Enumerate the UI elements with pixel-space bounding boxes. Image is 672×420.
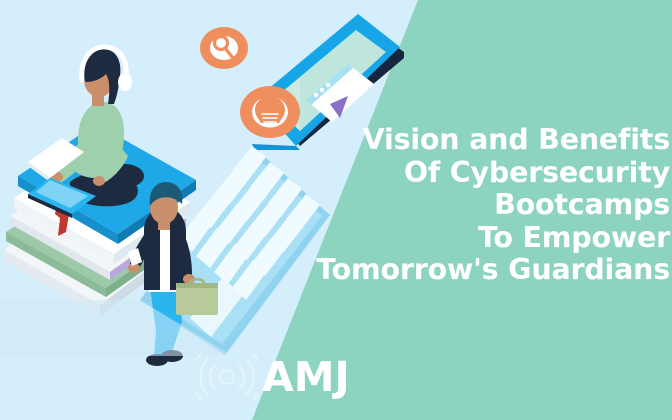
signal-waves-icon xyxy=(196,351,258,403)
browser-dot-3 xyxy=(326,83,330,87)
banner-canvas: Vision and Benefits Of Cybersecurity Boo… xyxy=(0,0,672,420)
headline-line-4: To Empower xyxy=(250,222,670,255)
headline-line-2: Of Cybersecurity xyxy=(250,157,670,190)
headphone-earcup xyxy=(118,73,132,91)
headline-line-1: Vision and Benefits xyxy=(250,124,670,157)
headline-line-5: Tomorrow's Guardians xyxy=(250,254,670,287)
woman-hand-right xyxy=(93,176,105,186)
brand-logo[interactable]: AMJ xyxy=(196,350,350,404)
headline-line-3: Bootcamps xyxy=(250,189,670,222)
logo-wordmark: AMJ xyxy=(262,357,350,398)
headline: Vision and Benefits Of Cybersecurity Boo… xyxy=(250,124,670,287)
browser-dot-1 xyxy=(314,93,318,97)
browser-dot-2 xyxy=(320,88,324,92)
man-briefcase xyxy=(176,279,218,315)
magnifier-badge-icon xyxy=(200,27,248,69)
